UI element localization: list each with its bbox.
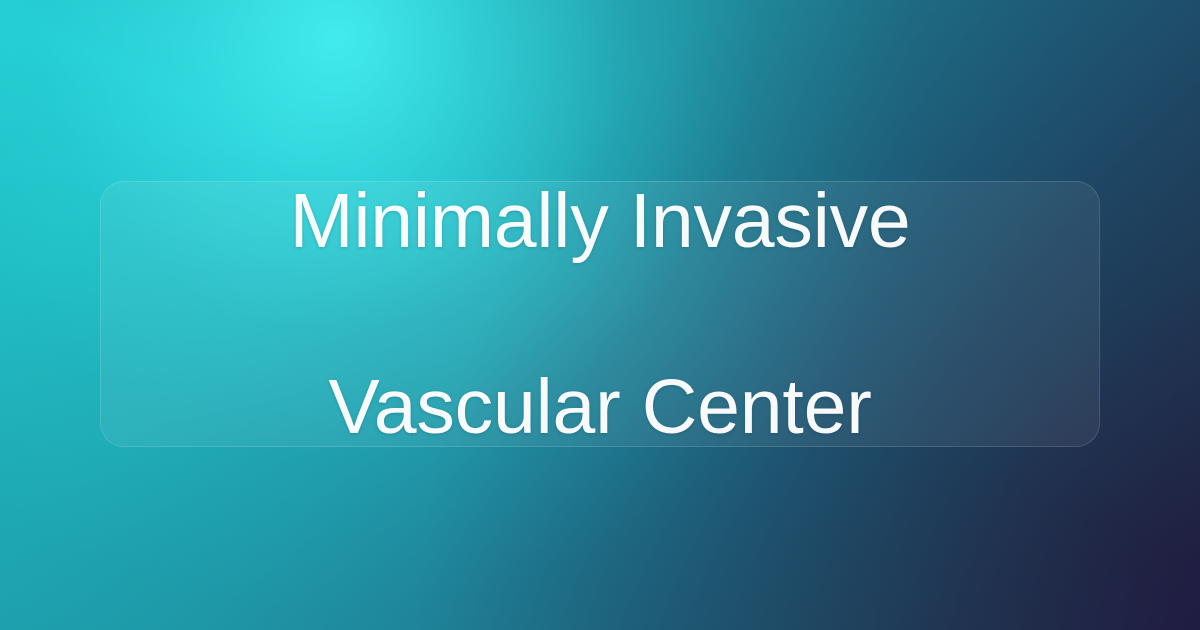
glass-title-card: Minimally Invasive Vascular Center (100, 181, 1100, 447)
glass-title-card-inner: Minimally Invasive Vascular Center (101, 82, 1099, 547)
page-title-line-1: Minimally Invasive (129, 175, 1071, 268)
page-title-line-2: Vascular Center (129, 361, 1071, 454)
og-image-canvas: Minimally Invasive Vascular Center (0, 0, 1200, 630)
page-title: Minimally Invasive Vascular Center (129, 82, 1071, 547)
